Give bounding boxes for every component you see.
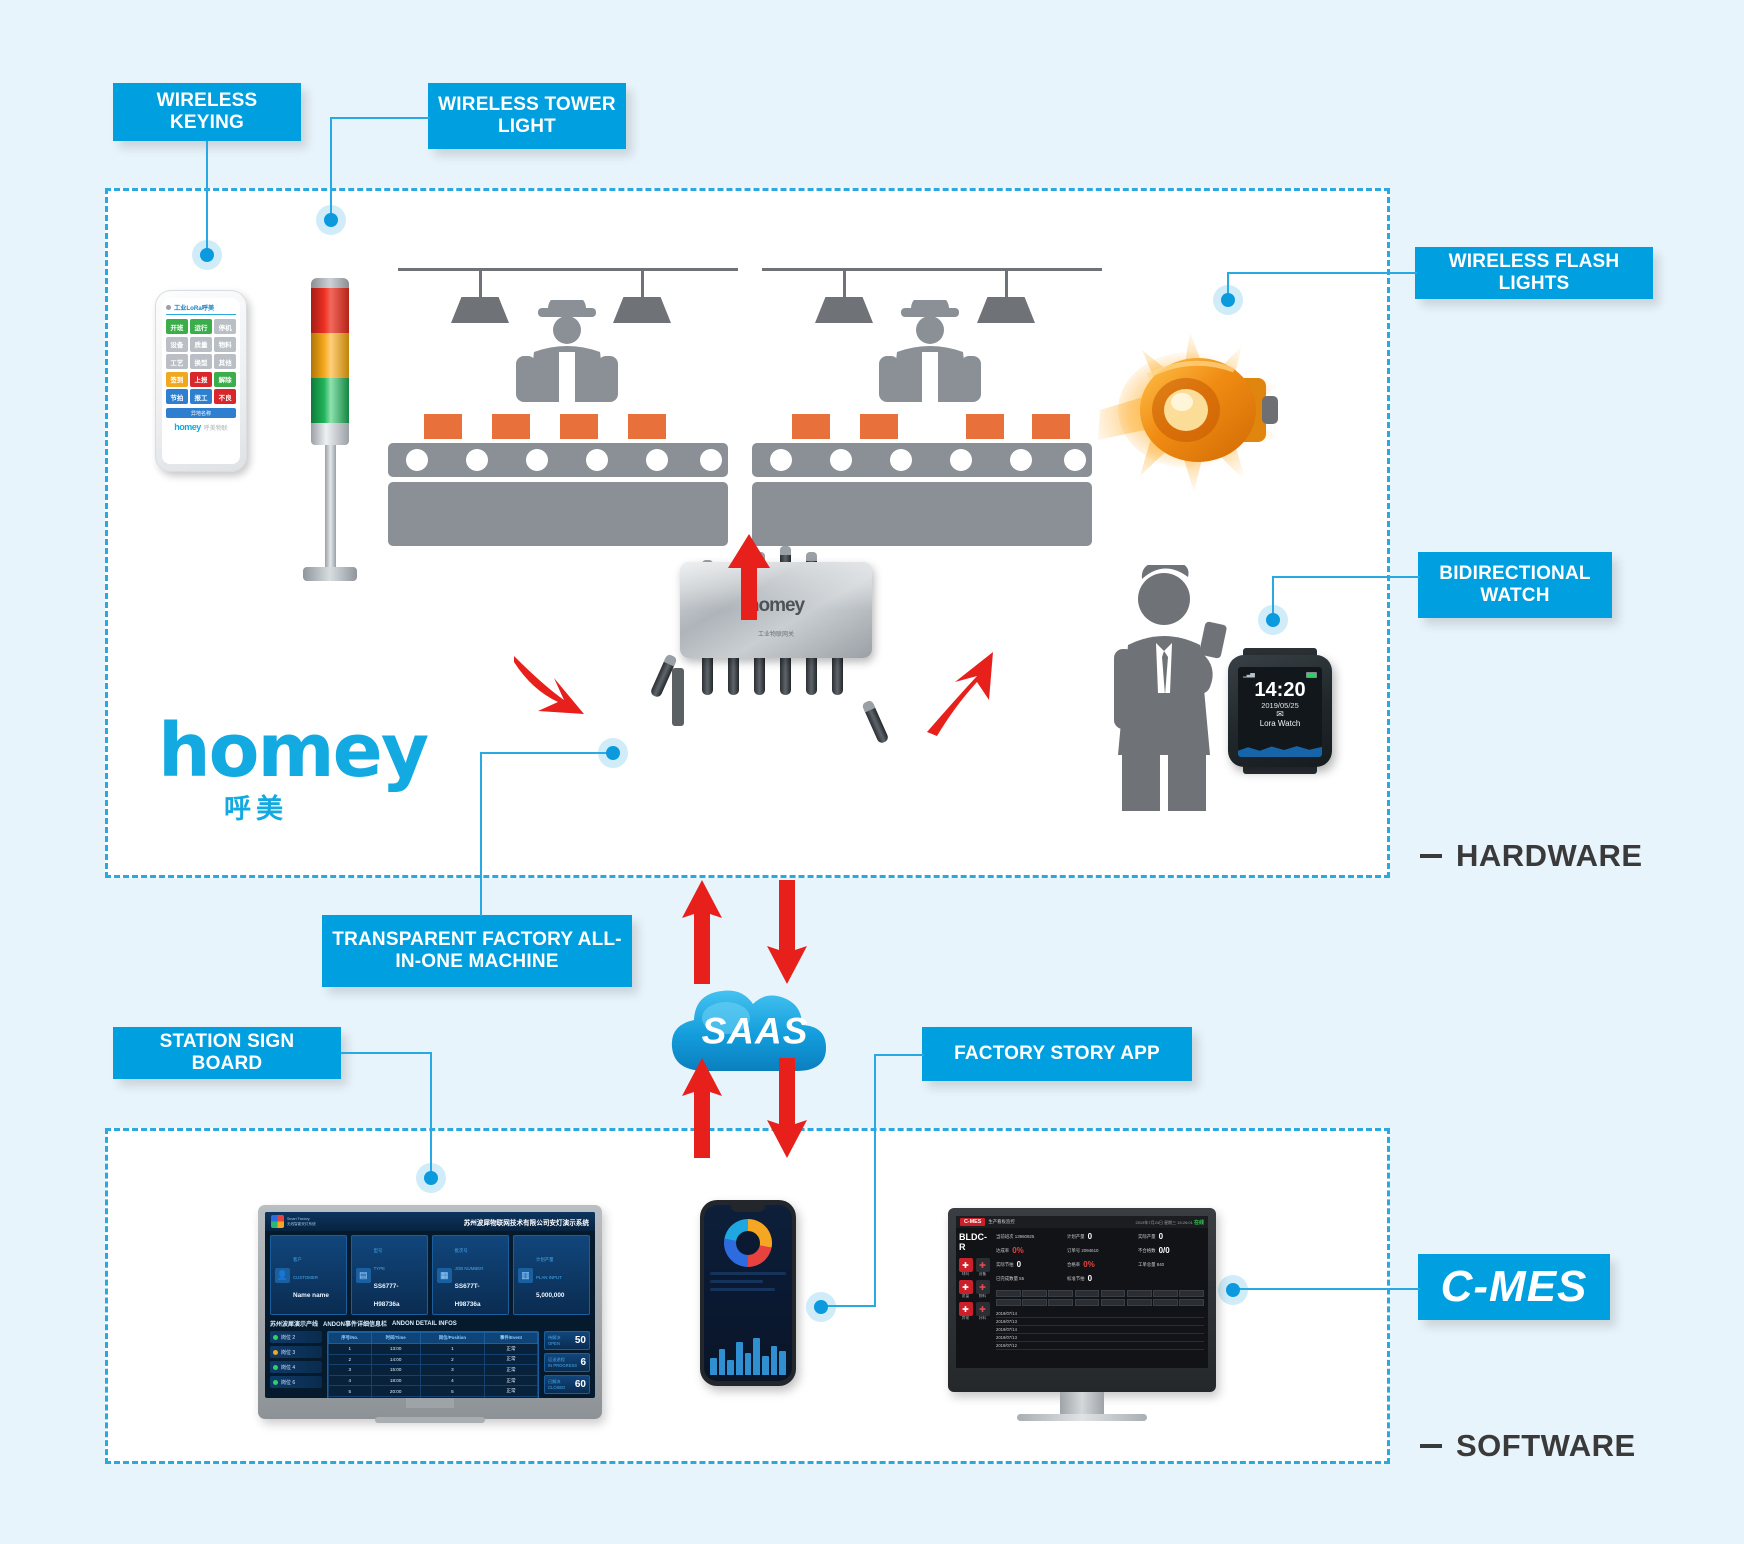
phone-screen[interactable]	[704, 1205, 792, 1381]
remote-key-4[interactable]: 设备	[166, 337, 188, 352]
lamp-shade	[977, 297, 1035, 323]
board-screen[interactable]: Smart Factory 无线智能安灯系统 苏州波犀物联网技术有限公司安灯演示…	[265, 1212, 595, 1398]
cmes-kpi-10: 已完成数量 55	[996, 1274, 1062, 1283]
leader-dot-tower-light	[316, 205, 346, 235]
cmes-grid-cell-5	[1101, 1290, 1126, 1297]
board-subheader-2: ANDON事件详细信息栏	[323, 1319, 387, 1328]
worker-figure-left	[512, 300, 622, 430]
cmes-grid-cell-12	[1075, 1299, 1100, 1306]
board-andon-table: 序号/No.时间/Time岗位/Position事件/Event 113:001…	[327, 1331, 539, 1398]
cmes-kpi-9: 工单总量 840	[1138, 1260, 1204, 1269]
cmes-grid-cell-4	[1075, 1290, 1100, 1297]
andon-cell: 13:00	[371, 1344, 420, 1355]
leader-line-flash-h	[1227, 272, 1417, 274]
transparent-factory-gateway[interactable]: homey 工业物联网关	[680, 560, 872, 658]
remote-brand: homey 呼美物联	[166, 422, 236, 432]
homey-logo: homey 呼美	[158, 718, 427, 826]
cmes-status-grid	[996, 1290, 1204, 1306]
board-metrics: 待解决OPEN50运送途程IN PROGRESS6已解决CLOSED60	[544, 1331, 590, 1398]
table-row: 520:005正常	[329, 1386, 538, 1397]
callout-wireless-flash-lights-label: WIRELESS FLASH LIGHTS	[1425, 251, 1643, 296]
callout-station-sign-board[interactable]: STATION SIGN BOARD	[113, 1027, 341, 1079]
cmes-content: 当前班次 13960925计划产量0实际产量0达成率0%订单号 2094610不…	[992, 1228, 1208, 1368]
andon-cell: 4	[420, 1375, 484, 1386]
phone-bar-4	[736, 1342, 743, 1375]
cmes-grid-cell-1	[996, 1290, 1021, 1297]
table-row: 214:002正常	[329, 1354, 538, 1365]
conveyor-roller	[830, 449, 852, 471]
andon-table-header-row: 序号/No.时间/Time岗位/Position事件/Event	[329, 1333, 538, 1344]
leader-dot-c-mes	[1218, 1275, 1248, 1305]
phone-shell	[700, 1200, 796, 1386]
remote-key-12[interactable]: 解除	[214, 372, 236, 387]
ceiling-rail-right	[762, 268, 1102, 271]
table-row: 622:006正常	[329, 1396, 538, 1398]
cmes-side-icon: ✚	[959, 1258, 973, 1272]
cmes-kpi-label: 合格率	[1067, 1262, 1080, 1268]
phone-donut-chart	[724, 1219, 772, 1267]
cmes-kpi-label: 标准节拍	[1067, 1276, 1085, 1282]
remote-bottom-bar: 异地名称	[166, 408, 236, 418]
software-dash	[1420, 1444, 1442, 1448]
andon-cell: 3	[420, 1365, 484, 1376]
arrow-down-from-gateway	[765, 880, 809, 984]
board-kpi-label: 计划产量PLAN INPUT	[536, 1257, 562, 1280]
table-row: 315:003正常	[329, 1365, 538, 1376]
cmes-record-list: 2019/07/142019/07/132019/07/142019/07/13…	[996, 1310, 1204, 1350]
cmes-grid-cell-13	[1101, 1299, 1126, 1306]
cmes-kpi-5: 订单号 2094610	[1067, 1246, 1133, 1255]
arrow-down-to-software	[765, 1058, 809, 1158]
leader-line-wireless-keying	[206, 141, 208, 254]
cmes-list-row-5: 2019/07/12	[996, 1342, 1204, 1350]
conveyor-base-right	[752, 482, 1092, 546]
station-name: 岗位 6	[281, 1379, 295, 1386]
board-metric-2: 运送途程IN PROGRESS6	[544, 1353, 590, 1372]
list-icon: ▦	[437, 1268, 452, 1283]
watch-case: ▁▃▅ 14:20 2019/05/25 ✉ Lora Watch	[1228, 655, 1332, 767]
cmes-kpi-value: 0	[1088, 1274, 1092, 1283]
board-metric-value: 50	[575, 1335, 586, 1346]
phone-bar-2	[719, 1349, 726, 1375]
conveyor-roller	[586, 449, 608, 471]
leader-line-app-h1	[874, 1054, 924, 1056]
board-kpi-value: Name name	[293, 1292, 329, 1299]
board-metric-label: 运送途程IN PROGRESS	[548, 1357, 577, 1367]
board-logo: Smart Factory 无线智能安灯系统	[271, 1215, 316, 1228]
remote-key-10[interactable]: 签到	[166, 372, 188, 387]
conveyor-base-left	[388, 482, 728, 546]
cmes-side-button-3[interactable]: ✚质量	[959, 1280, 973, 1299]
station-status-dot	[273, 1365, 278, 1370]
cmes-list-row-1: 2019/07/14	[996, 1310, 1204, 1318]
conveyor-roller	[1064, 449, 1086, 471]
cmes-kpi-value: 0	[1017, 1260, 1021, 1269]
conveyor-roller	[526, 449, 548, 471]
callout-c-mes[interactable]: C-MES	[1418, 1254, 1610, 1320]
cmes-kpi-label: 订单号 2094610	[1067, 1248, 1099, 1254]
callout-transparent-factory[interactable]: TRANSPARENT FACTORY ALL-IN-ONE MACHINE	[322, 915, 632, 987]
cmes-kpi-value: 0%	[1012, 1246, 1024, 1255]
cmes-grid-cell-8	[1179, 1290, 1204, 1297]
andon-cell: 正常	[485, 1386, 538, 1397]
board-body: 岗位 2岗位 3岗位 4岗位 6 序号/No.时间/Time岗位/Positio…	[265, 1331, 595, 1398]
andon-cell: 20:00	[371, 1386, 420, 1397]
cmes-imac[interactable]: C-MES 生产看板监控 2019年7月24日 星期三 15:26:01 在线 …	[948, 1208, 1216, 1421]
battery-icon	[1306, 672, 1317, 678]
remote-header: 工业LoRa呼美	[166, 303, 236, 315]
board-kpi-1: 👤客户CUSTOMERName name	[270, 1235, 347, 1315]
remote-led-icon	[166, 305, 171, 310]
cmes-side-label: 补料	[976, 1316, 990, 1321]
cmes-side-buttons[interactable]: ✚呼叫✚设备✚质量✚物料✚异常✚补料	[959, 1258, 990, 1321]
remote-key-6[interactable]: 物料	[214, 337, 236, 352]
imac-screen[interactable]: C-MES 生产看板监控 2019年7月24日 星期三 15:26:01 在线 …	[956, 1216, 1208, 1368]
cmes-list-row-2: 2019/07/13	[996, 1318, 1204, 1326]
table-row: 418:004正常	[329, 1375, 538, 1386]
andon-cell: 3	[329, 1365, 372, 1376]
cmes-side-icon: ✚	[976, 1302, 990, 1316]
board-station-4[interactable]: 岗位 6	[270, 1376, 322, 1388]
board-logo-text: Smart Factory 无线智能安灯系统	[287, 1217, 316, 1226]
chart-icon: ▥	[518, 1268, 533, 1283]
andon-cell: 22:00	[371, 1396, 420, 1398]
andon-col-4: 事件/Event	[485, 1333, 538, 1344]
callout-wireless-flash-lights[interactable]: WIRELESS FLASH LIGHTS	[1415, 247, 1653, 299]
board-metric-1: 待解决OPEN50	[544, 1331, 590, 1350]
remote-title: 工业LoRa呼美	[174, 303, 214, 312]
cmes-tag: C-MES	[960, 1218, 985, 1226]
cmes-grid-cell-11	[1048, 1299, 1073, 1306]
andon-col-1: 序号/No.	[329, 1333, 372, 1344]
arrow-curve-right-up	[915, 640, 1007, 736]
person-icon: 👤	[275, 1268, 290, 1283]
cmes-subtitle: 生产看板监控	[988, 1219, 1014, 1225]
leader-line-tower-v	[330, 117, 332, 217]
ceiling-rail-left	[398, 268, 738, 271]
andon-cell: 正常	[485, 1396, 538, 1398]
remote-brand-main: homey	[174, 422, 201, 432]
callout-c-mes-label: C-MES	[1441, 1261, 1588, 1313]
cmes-kpi-1: 当前班次 13960925	[996, 1232, 1062, 1241]
board-title: 苏州波犀物联网技术有限公司安灯演示系统	[464, 1217, 589, 1227]
cmes-kpi-label: 实际节拍	[996, 1262, 1014, 1268]
remote-key-3[interactable]: 停机	[214, 319, 236, 334]
andon-cell: 15:00	[371, 1365, 420, 1376]
conveyor-part	[966, 414, 1004, 439]
remote-key-9[interactable]: 其他	[214, 354, 236, 369]
board-kpi-label: 客户CUSTOMER	[293, 1257, 318, 1280]
conveyor-part	[560, 414, 598, 439]
cmes-grid-cell-3	[1048, 1290, 1073, 1297]
conveyor-roller	[646, 449, 668, 471]
diagram-canvas: HARDWARE SOFTWARE WIRELESS KEYING WIRELE…	[0, 0, 1744, 1544]
board-metric-label: 待解决OPEN	[548, 1335, 561, 1345]
leader-dot-bidirectional-watch	[1258, 605, 1288, 635]
callout-station-sign-board-label: STATION SIGN BOARD	[123, 1031, 331, 1076]
andon-cell: 1	[329, 1344, 372, 1355]
arrow-up-to-gateway	[680, 880, 724, 984]
cmes-kpi-label: 计划产量	[1067, 1234, 1085, 1240]
cmes-side-button-5[interactable]: ✚异常	[959, 1302, 973, 1321]
board-bezel: Smart Factory 无线智能安灯系统 苏州波犀物联网技术有限公司安灯演示…	[258, 1205, 602, 1419]
tower-light-pole	[325, 445, 336, 567]
andon-cell: 5	[329, 1386, 372, 1397]
cmes-kpi-label: 当前班次 13960925	[996, 1234, 1034, 1240]
phone-bar-3	[727, 1360, 734, 1375]
andon-table-body: 113:001正常214:002正常315:003正常418:004正常520:…	[329, 1344, 538, 1399]
cmes-side-label: 设备	[976, 1272, 990, 1277]
software-section-tag: SOFTWARE	[1420, 1428, 1636, 1464]
board-kpi-label: 批次号JOB NUMBER	[455, 1248, 484, 1271]
station-sign-board-monitor[interactable]: Smart Factory 无线智能安灯系统 苏州波犀物联网技术有限公司安灯演示…	[258, 1205, 602, 1423]
andon-table: 序号/No.时间/Time岗位/Position事件/Event 113:001…	[328, 1332, 538, 1398]
andon-col-3: 岗位/Position	[420, 1333, 484, 1344]
watch-status-bar: ▁▃▅	[1243, 671, 1317, 678]
cmes-brand: C-MES 生产看板监控	[960, 1218, 1015, 1226]
callout-factory-story-app-label: FACTORY STORY APP	[954, 1043, 1160, 1065]
imac-base	[1017, 1414, 1147, 1421]
ceiling-lamp-1	[451, 271, 509, 323]
board-subheader-1: 苏州波犀演示产线	[270, 1319, 318, 1328]
lamp-stem	[479, 271, 482, 297]
cmes-side-button-6[interactable]: ✚补料	[976, 1302, 990, 1321]
station-name: 岗位 2	[281, 1334, 295, 1341]
conveyor-part	[1032, 414, 1070, 439]
watch-name: Lora Watch	[1243, 719, 1317, 728]
cmes-meta: 2019年7月24日 星期三 15:26:01 在线	[1135, 1219, 1204, 1226]
conveyor-roller	[1010, 449, 1032, 471]
tower-light-green	[311, 378, 349, 423]
bidirectional-watch-device[interactable]: ▁▃▅ 14:20 2019/05/25 ✉ Lora Watch	[1228, 655, 1332, 767]
remote-key-7[interactable]: 工艺	[166, 354, 188, 369]
leader-line-tf-h	[480, 752, 612, 754]
cmes-grid-cell-16	[1179, 1299, 1204, 1306]
phone-bar-1	[710, 1358, 717, 1375]
board-kpi-value: SS6777-H98736a	[374, 1283, 400, 1308]
andon-cell: 6	[329, 1396, 372, 1398]
board-subheader-row: 苏州波犀演示产线ANDON事件详细信息栏ANDON DETAIL INFOS	[265, 1319, 595, 1331]
cmes-side-label: 物料	[976, 1294, 990, 1299]
remote-key-13[interactable]: 节拍	[166, 389, 188, 404]
cmes-side-icon: ✚	[959, 1302, 973, 1316]
andon-cell: 5	[420, 1386, 484, 1397]
cmes-meta-date: 2019年7月24日 星期三 15:26:01	[1135, 1220, 1192, 1225]
conveyor-part	[492, 414, 530, 439]
remote-key-2[interactable]: 运行	[190, 319, 212, 334]
cmes-kpi-3: 实际产量0	[1138, 1232, 1204, 1241]
cmes-side-button-2[interactable]: ✚设备	[976, 1258, 990, 1277]
andon-cell: 1	[420, 1344, 484, 1355]
cmes-side-icon: ✚	[959, 1280, 973, 1294]
board-kpi-3: ▦批次号JOB NUMBERSS677T-H98736a	[432, 1235, 509, 1315]
station-name: 岗位 4	[281, 1364, 295, 1371]
lamp-shade	[451, 297, 509, 323]
leader-line-watch-h	[1272, 576, 1420, 578]
arrow-up-to-conveyor	[726, 534, 772, 620]
gateway-body: homey 工业物联网关	[680, 562, 872, 658]
phone-bar-9	[779, 1351, 786, 1375]
cmes-kpi-label: 工单总量 840	[1138, 1262, 1164, 1268]
board-logo-line2: 无线智能安灯系统	[287, 1222, 316, 1226]
phone-row-line	[710, 1288, 775, 1291]
cmes-kpi-label: 已完成数量 55	[996, 1276, 1024, 1282]
gateway-ports	[672, 668, 684, 726]
envelope-icon: ✉	[1243, 710, 1317, 719]
board-subheader-3: ANDON DETAIL INFOS	[392, 1321, 457, 1327]
callout-wireless-tower-light-label: WIRELESS TOWER LIGHT	[438, 94, 616, 139]
board-station-2[interactable]: 岗位 3	[270, 1346, 322, 1358]
cmes-side-label: 呼叫	[959, 1272, 973, 1277]
cmes-grid-cell-9	[996, 1299, 1021, 1306]
board-kpi-value: 5,000,000	[536, 1292, 564, 1299]
conveyor-roller	[890, 449, 912, 471]
cmes-kpi-label: 实际产量	[1138, 1234, 1156, 1240]
imac-neck	[1060, 1392, 1104, 1414]
andon-cell: 6	[420, 1396, 484, 1398]
arrow-curve-left-down	[510, 650, 600, 732]
leader-line-tf-v	[480, 752, 482, 916]
cmes-kpi-7: 实际节拍0	[996, 1260, 1062, 1269]
phone-bar-chart	[710, 1333, 786, 1375]
remote-key-15[interactable]: 不良	[214, 389, 236, 404]
andon-cell: 正常	[485, 1365, 538, 1376]
callout-wireless-tower-light[interactable]: WIRELESS TOWER LIGHT	[428, 83, 626, 149]
station-status-dot	[273, 1380, 278, 1385]
cmes-kpi-list: 当前班次 13960925计划产量0实际产量0达成率0%订单号 2094610不…	[996, 1232, 1204, 1286]
watch-screen[interactable]: ▁▃▅ 14:20 2019/05/25 ✉ Lora Watch	[1238, 667, 1322, 757]
leader-line-board-v	[430, 1052, 432, 1174]
cmes-topbar: C-MES 生产看板监控 2019年7月24日 星期三 15:26:01 在线	[956, 1216, 1208, 1228]
cmes-side-label: 异常	[959, 1316, 973, 1321]
board-station-list[interactable]: 岗位 2岗位 3岗位 4岗位 6	[270, 1331, 322, 1398]
andon-cell: 14:00	[371, 1354, 420, 1365]
conveyor-part	[792, 414, 830, 439]
cmes-kpi-value: 0/0	[1159, 1246, 1170, 1255]
andon-cell: 正常	[485, 1375, 538, 1386]
board-header: Smart Factory 无线智能安灯系统 苏州波犀物联网技术有限公司安灯演示…	[265, 1212, 595, 1231]
signal-icon: ▁▃▅	[1243, 671, 1254, 678]
board-kpi-label: 型号TYPE	[374, 1248, 385, 1271]
factory-story-app-phone[interactable]	[700, 1200, 796, 1386]
conveyor-part	[628, 414, 666, 439]
phone-row-line	[710, 1272, 786, 1275]
watch-wave-decoration	[1238, 743, 1322, 757]
board-foot	[375, 1417, 485, 1423]
conveyor-belt-left	[388, 443, 728, 477]
cmes-kpi-8: 合格率0%	[1067, 1260, 1133, 1269]
conveyor-part	[860, 414, 898, 439]
cmes-list-row-4: 2019/07/13	[996, 1334, 1204, 1342]
cmes-grid-cell-10	[1022, 1299, 1047, 1306]
hardware-section-tag: HARDWARE	[1420, 838, 1643, 874]
hardware-dash	[1420, 854, 1442, 858]
leader-line-app-v	[874, 1054, 876, 1306]
remote-keypad[interactable]: 开班运行停机设备质量物料工艺换型其他签到上报解除节拍报工不良	[166, 319, 236, 404]
leader-line-board-h	[341, 1052, 431, 1054]
board-kpi-4: ▥计划产量PLAN INPUT5,000,000	[513, 1235, 590, 1315]
homey-logo-word: homey	[158, 718, 427, 785]
arrow-up-from-software	[680, 1058, 724, 1158]
cmes-side-icon: ✚	[976, 1258, 990, 1272]
leader-dot-factory-story-app	[806, 1292, 836, 1322]
wireless-tower-light-device[interactable]	[303, 278, 357, 581]
cmes-grid-cell-6	[1127, 1290, 1152, 1297]
tower-light-body	[311, 423, 349, 445]
wireless-keying-remote[interactable]: 工业LoRa呼美 开班运行停机设备质量物料工艺换型其他签到上报解除节拍报工不良 …	[155, 290, 247, 472]
board-station-3[interactable]: 岗位 4	[270, 1361, 322, 1373]
remote-key-8[interactable]: 换型	[190, 354, 212, 369]
saas-label: SAAS	[660, 1011, 850, 1053]
cmes-side-button-4[interactable]: ✚物料	[976, 1280, 990, 1299]
remote-key-5[interactable]: 质量	[190, 337, 212, 352]
board-metric-label: 已解决CLOSED	[548, 1379, 565, 1389]
conveyor-roller	[770, 449, 792, 471]
cmes-main: BLDC-R ✚呼叫✚设备✚质量✚物料✚异常✚补料 当前班次 13960925计…	[956, 1228, 1208, 1368]
document-icon: ▤	[356, 1268, 371, 1283]
cmes-side-button-1[interactable]: ✚呼叫	[959, 1258, 973, 1277]
conveyor-roller	[466, 449, 488, 471]
wireless-flash-light-device[interactable]	[1090, 310, 1320, 515]
board-station-1[interactable]: 岗位 2	[270, 1331, 322, 1343]
leader-dot-station-sign-board	[416, 1163, 446, 1193]
callout-bidirectional-watch[interactable]: BIDIRECTIONAL WATCH	[1418, 552, 1612, 618]
callout-factory-story-app[interactable]: FACTORY STORY APP	[922, 1027, 1192, 1081]
board-metric-3: 已解决CLOSED60	[544, 1375, 590, 1394]
leader-dot-transparent-factory	[598, 738, 628, 768]
software-label: SOFTWARE	[1456, 1428, 1636, 1464]
andon-cell: 18:00	[371, 1375, 420, 1386]
remote-faceplate: 工业LoRa呼美 开班运行停机设备质量物料工艺换型其他签到上报解除节拍报工不良 …	[162, 298, 240, 464]
phone-bar-8	[771, 1346, 778, 1375]
andon-cell: 正常	[485, 1354, 538, 1365]
hardware-label: HARDWARE	[1456, 838, 1643, 874]
cmes-kpi-value: 0	[1159, 1232, 1163, 1241]
remote-key-11[interactable]: 上报	[190, 372, 212, 387]
cmes-kpi-label: 不合格数	[1138, 1248, 1156, 1254]
lamp-stem	[843, 271, 846, 297]
cmes-kpi-value: 0%	[1083, 1260, 1095, 1269]
andon-cell: 4	[329, 1375, 372, 1386]
board-metric-value: 6	[580, 1357, 586, 1368]
watch-time: 14:20	[1243, 680, 1317, 701]
board-metric-value: 60	[575, 1379, 586, 1390]
remote-brand-sub: 呼美物联	[204, 423, 228, 432]
phone-notch	[731, 1205, 765, 1212]
cmes-sidebar[interactable]: BLDC-R ✚呼叫✚设备✚质量✚物料✚异常✚补料	[956, 1228, 992, 1368]
leader-line-cmes-h	[1232, 1288, 1420, 1290]
conveyor-belt-right	[752, 443, 1092, 477]
remote-key-14[interactable]: 报工	[190, 389, 212, 404]
callout-wireless-keying[interactable]: WIRELESS KEYING	[113, 83, 301, 141]
board-kpi-2: ▤型号TYPESS6777-H98736a	[351, 1235, 428, 1315]
station-status-dot	[273, 1350, 278, 1355]
andon-cell: 2	[329, 1354, 372, 1365]
cmes-kpi-11: 标准节拍0	[1067, 1274, 1133, 1283]
cmes-kpi-6: 不合格数0/0	[1138, 1246, 1204, 1255]
cmes-grid-cell-7	[1153, 1290, 1178, 1297]
board-logo-icon	[271, 1215, 284, 1228]
cmes-line-code: BLDC-R	[959, 1232, 989, 1252]
andon-cell: 2	[420, 1354, 484, 1365]
station-name: 岗位 3	[281, 1349, 295, 1356]
remote-key-1[interactable]: 开班	[166, 319, 188, 334]
cmes-kpi-2: 计划产量0	[1067, 1232, 1133, 1241]
leader-dot-wireless-keying	[192, 240, 222, 270]
ceiling-lamp-4	[977, 271, 1035, 323]
tower-light-base	[303, 567, 357, 581]
phone-bar-6	[753, 1338, 760, 1375]
